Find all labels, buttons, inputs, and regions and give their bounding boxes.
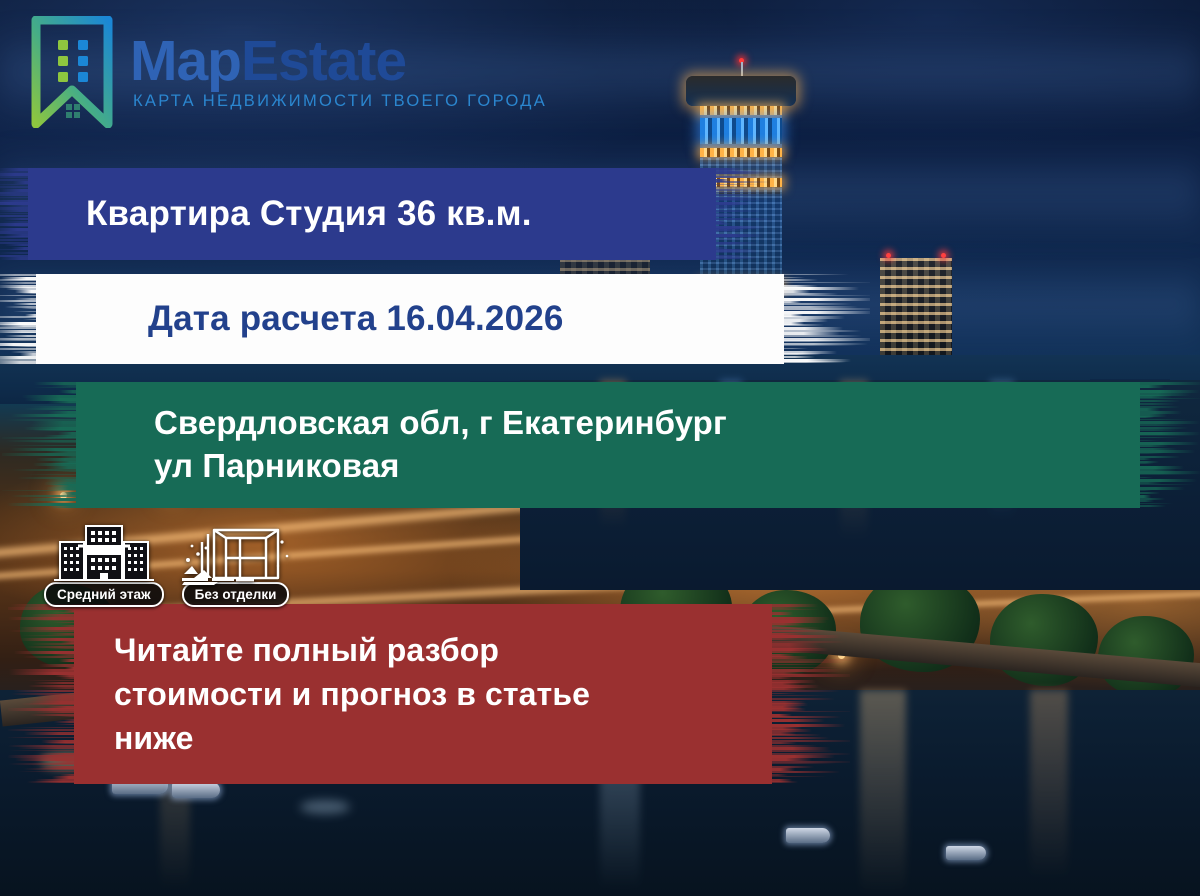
brand-wordmark: MapEstate КАРТА НЕДВИЖИМОСТИ ТВОЕГО ГОРО… (130, 33, 547, 111)
river-boat (946, 846, 986, 860)
river-boat (172, 782, 220, 798)
apartment-building-icon (52, 516, 156, 586)
cta-line-1: Читайте полный разбор (114, 628, 590, 672)
poster-canvas: MapEstate КАРТА НЕДВИЖИМОСТИ ТВОЕГО ГОРО… (0, 0, 1200, 896)
brand-name: MapEstate (130, 33, 547, 90)
cta-line-3: ниже (114, 716, 590, 760)
feature-middle-floor[interactable]: Средний этаж (44, 516, 164, 607)
cta-banner[interactable]: Читайте полный разбор стоимости и прогно… (74, 604, 772, 784)
river-boat (786, 828, 830, 843)
address-line-street: ул Парниковая (154, 445, 727, 488)
calc-date-text: Дата расчета 16.04.2026 (36, 299, 564, 339)
brand-tagline: КАРТА НЕДВИЖИМОСТИ ТВОЕГО ГОРОДА (130, 92, 547, 111)
property-title: Квартира Студия 36 кв.м. (28, 194, 532, 234)
feature-badges: Средний этаж (44, 516, 294, 607)
brand-logo[interactable]: MapEstate КАРТА НЕДВИЖИМОСТИ ТВОЕГО ГОРО… (28, 16, 547, 128)
calc-date-banner: Дата расчета 16.04.2026 (36, 274, 784, 364)
brand-name-part1: Map (130, 29, 241, 93)
property-banner: Квартира Студия 36 кв.м. (28, 168, 716, 260)
feature-no-finishing[interactable]: Без отделки (178, 516, 294, 607)
address-banner: Свердловская обл, г Екатеринбург ул Парн… (76, 382, 1140, 508)
brand-name-part2: Estate (241, 29, 406, 93)
cta-line-2: стоимости и прогноз в статье (114, 672, 590, 716)
bare-walls-renovation-icon (178, 516, 294, 586)
bookmark-building-icon (28, 16, 116, 128)
address-line-region: Свердловская обл, г Екатеринбург (154, 402, 727, 445)
